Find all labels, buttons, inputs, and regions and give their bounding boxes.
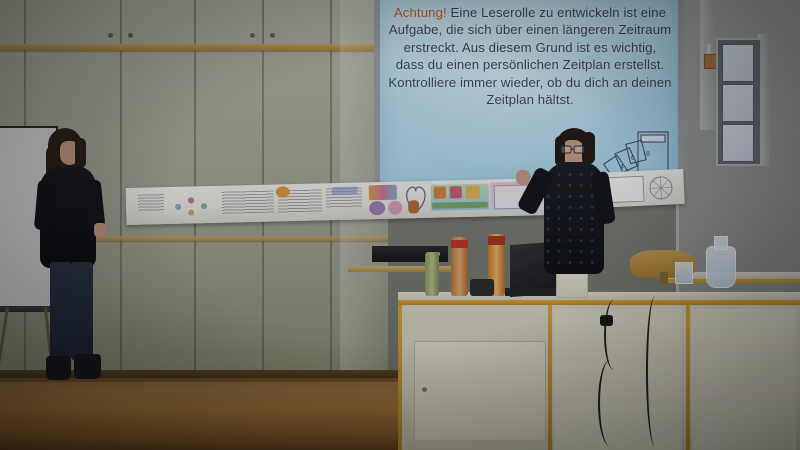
classroom-photo: Achtung! Eine Leserolle zu entwickeln is… <box>0 0 800 450</box>
vignette-overlay <box>0 0 800 450</box>
